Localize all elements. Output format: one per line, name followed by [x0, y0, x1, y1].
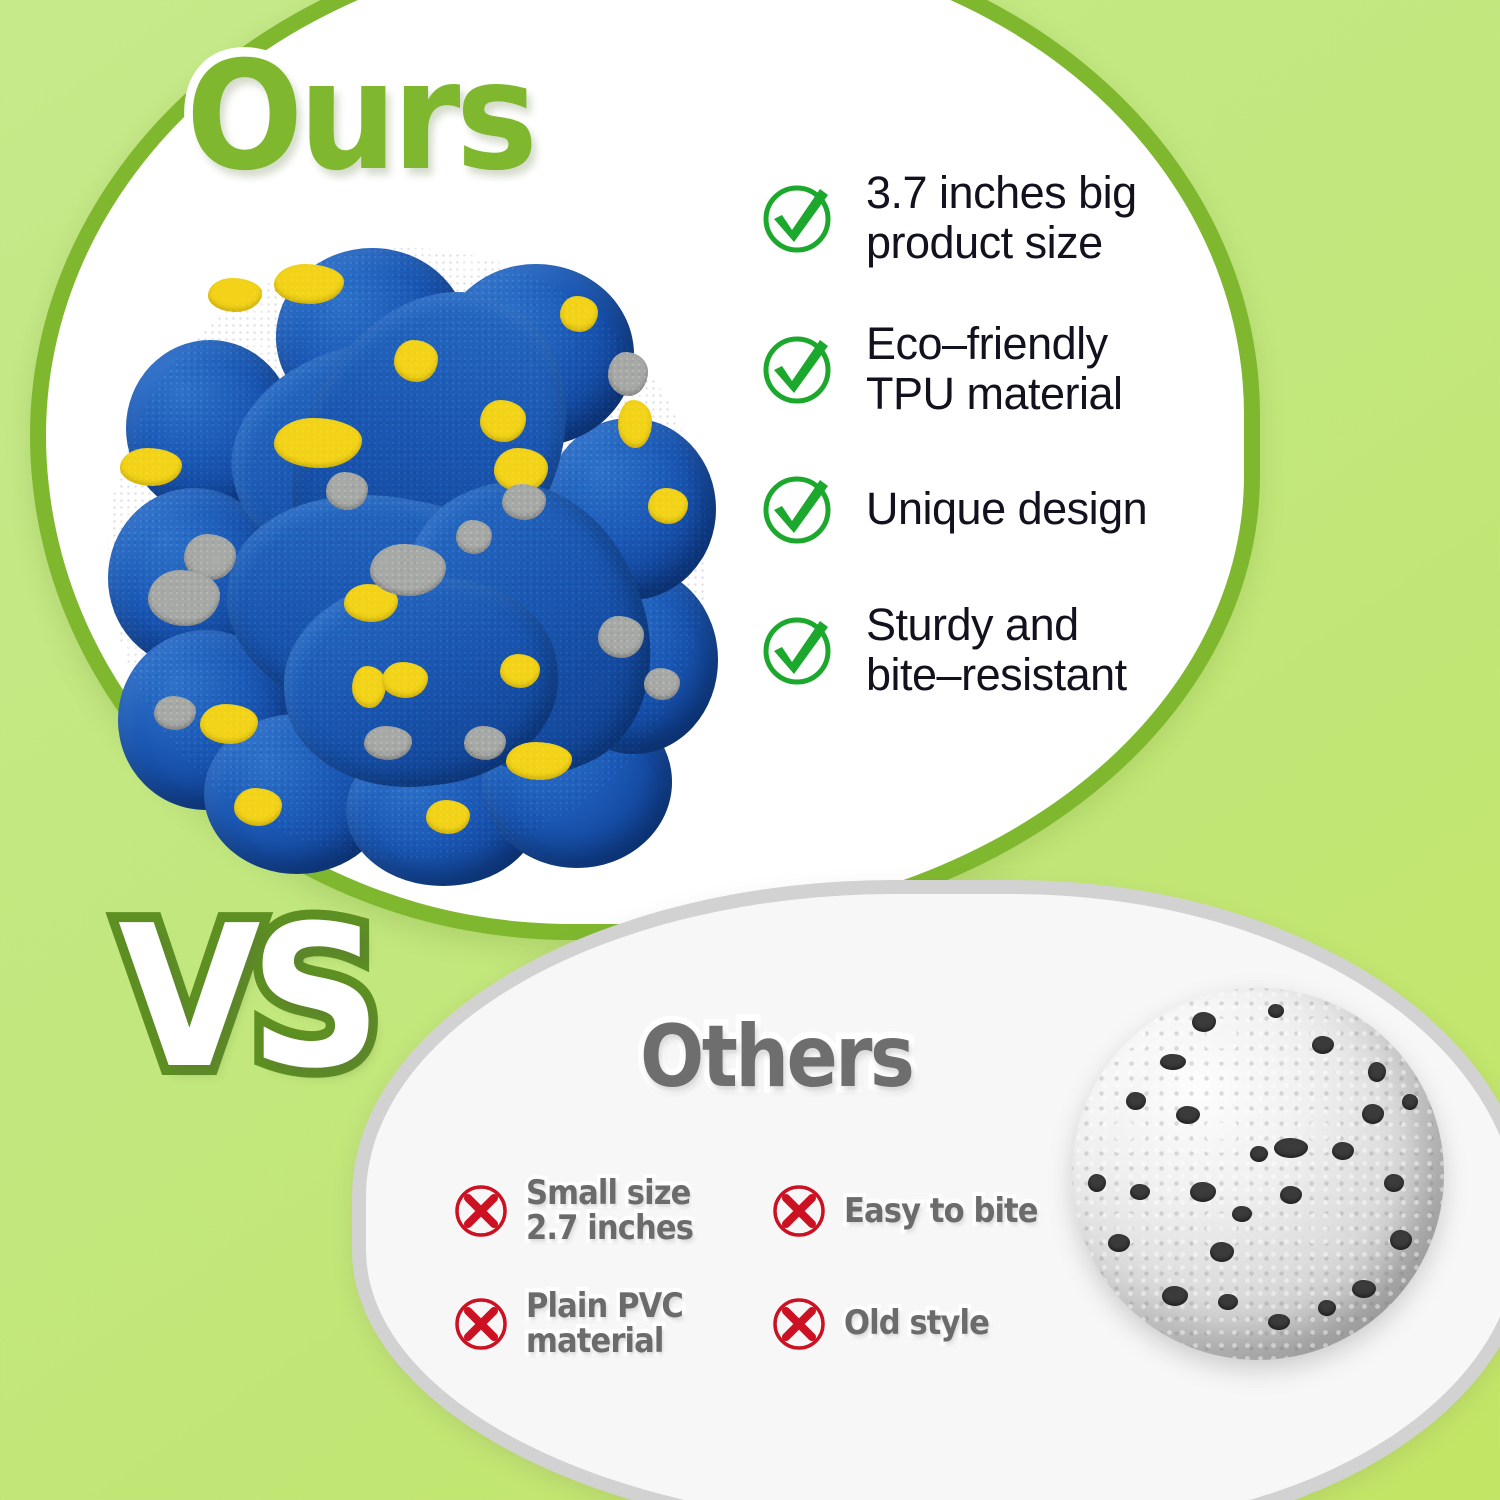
gray-speckled-ball-image — [1072, 988, 1444, 1360]
others-title: Others — [640, 1014, 912, 1100]
drawback-item: Old style — [770, 1289, 1070, 1360]
versus-label: VS — [118, 900, 371, 1096]
drawback-label: Plain PVC material — [526, 1289, 683, 1360]
x-circle-icon — [770, 1182, 828, 1240]
drawback-item: Plain PVC material — [452, 1289, 752, 1360]
ours-feature-list: 3.7 inches big product size Eco–friendly… — [758, 168, 1228, 699]
feature-label: Unique design — [866, 484, 1147, 534]
x-circle-icon — [452, 1295, 510, 1353]
drawback-label: Small size 2.7 inches — [526, 1176, 693, 1247]
check-circle-icon — [758, 611, 836, 689]
feature-label: Sturdy and bite–resistant — [866, 600, 1127, 699]
feature-item: 3.7 inches big product size — [758, 168, 1228, 267]
x-circle-icon — [770, 1295, 828, 1353]
blue-knotted-ball-image — [108, 248, 708, 860]
feature-item: Eco–friendly TPU material — [758, 319, 1228, 418]
feature-label: 3.7 inches big product size — [866, 168, 1137, 267]
drawback-label: Easy to bite — [844, 1194, 1038, 1229]
others-drawback-list: Small size 2.7 inches Easy to bite Plain… — [452, 1176, 1070, 1359]
feature-item: Sturdy and bite–resistant — [758, 600, 1228, 699]
feature-item: Unique design — [758, 470, 1228, 548]
ours-title: Ours — [186, 42, 533, 192]
feature-label: Eco–friendly TPU material — [866, 319, 1123, 418]
check-circle-icon — [758, 179, 836, 257]
drawback-label: Old style — [844, 1306, 989, 1341]
drawback-item: Small size 2.7 inches — [452, 1176, 752, 1247]
check-circle-icon — [758, 330, 836, 408]
check-circle-icon — [758, 470, 836, 548]
drawback-item: Easy to bite — [770, 1176, 1070, 1247]
x-circle-icon — [452, 1182, 510, 1240]
